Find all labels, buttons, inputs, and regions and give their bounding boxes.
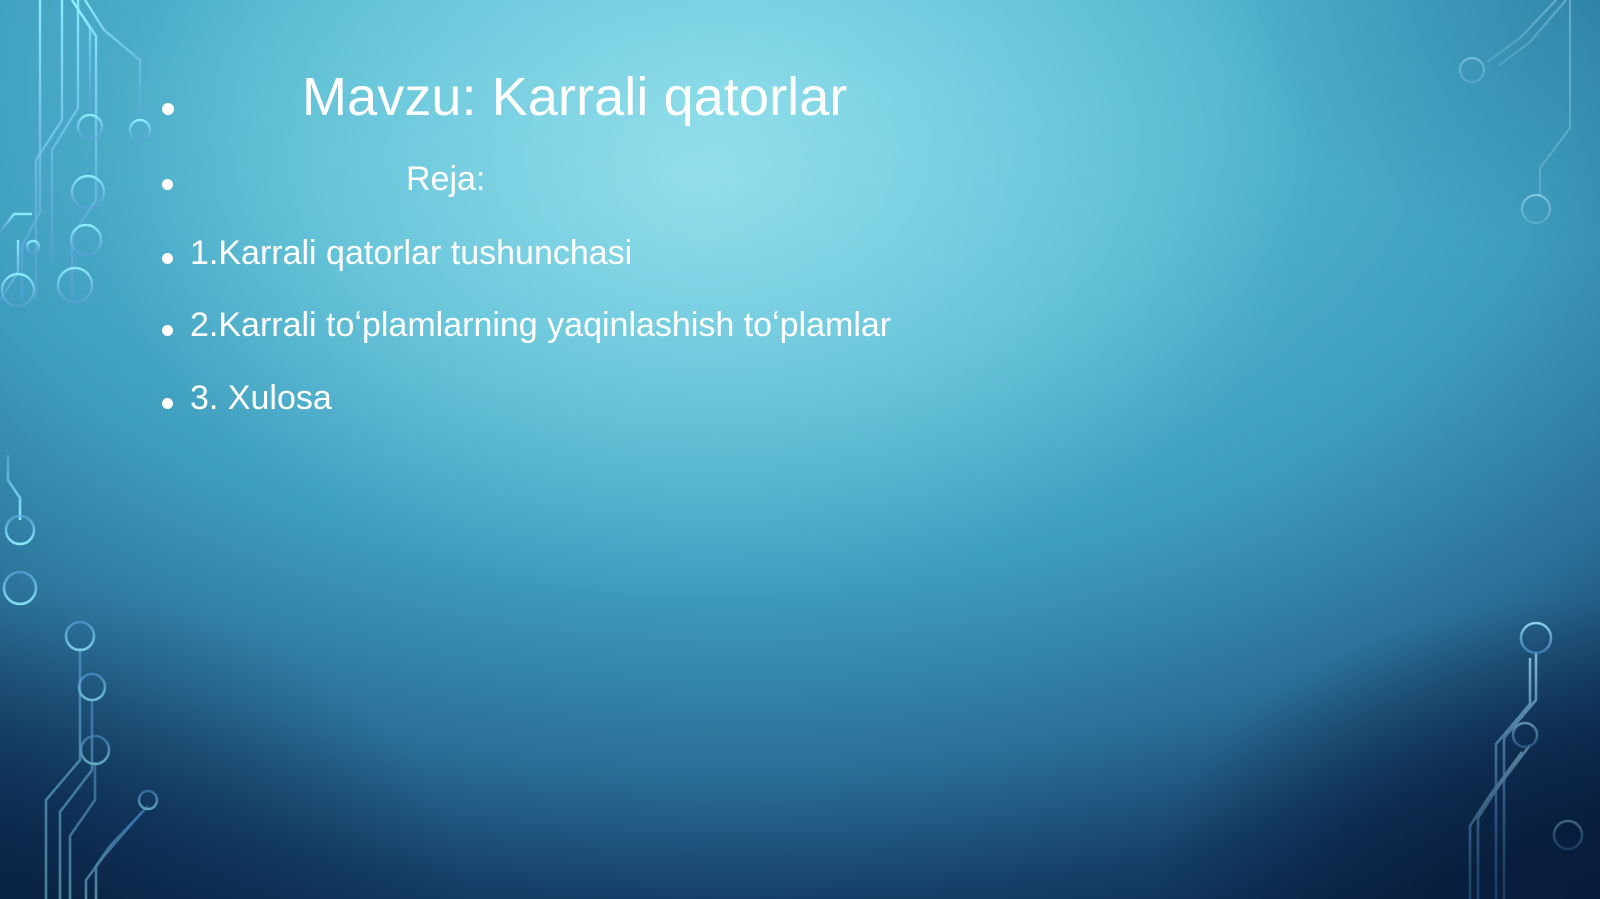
agenda-heading-bullet-row: Reja: <box>162 160 485 199</box>
bullet-dot-icon <box>162 179 173 190</box>
presentation-slide: Mavzu: Karrali qatorlar Reja: 1.Karrali … <box>0 0 1600 899</box>
bullet-dot-icon <box>162 253 173 264</box>
bullet-dot-icon <box>162 325 173 336</box>
agenda-item-2: 2.Karrali toʻplamlarning yaqinlashish to… <box>162 306 891 345</box>
agenda-heading: Reja: <box>406 160 485 199</box>
agenda-item-3: 3. Xulosa <box>162 379 332 418</box>
slide-content: Mavzu: Karrali qatorlar Reja: 1.Karrali … <box>0 0 1600 899</box>
bullet-dot-icon <box>162 103 174 115</box>
agenda-item-1-label: 1.Karrali qatorlar tushunchasi <box>190 234 632 273</box>
slide-title: Mavzu: Karrali qatorlar <box>302 66 848 128</box>
agenda-item-3-label: 3. Xulosa <box>190 379 332 418</box>
slide-title-bullet-row: Mavzu: Karrali qatorlar <box>162 66 848 128</box>
bullet-dot-icon <box>162 398 173 409</box>
agenda-item-1: 1.Karrali qatorlar tushunchasi <box>162 234 632 273</box>
agenda-item-2-label: 2.Karrali toʻplamlarning yaqinlashish to… <box>190 306 891 345</box>
